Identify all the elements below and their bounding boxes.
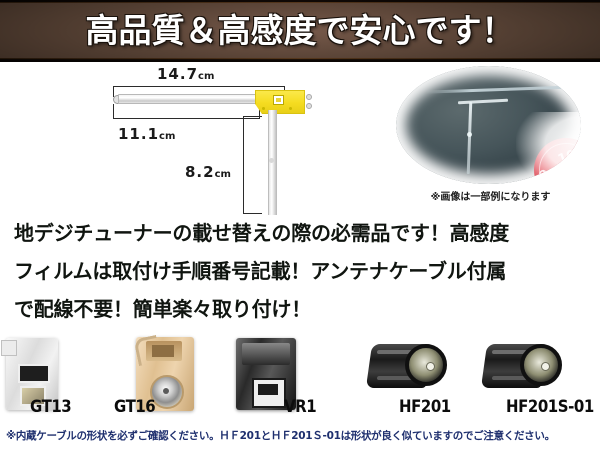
connector-item-hf201s01: HF201S-01 xyxy=(470,332,590,418)
gt13-latch-nub xyxy=(1,340,17,356)
antenna-contact-chip xyxy=(273,95,284,105)
vr1-top-shell xyxy=(242,343,290,365)
description-line-2: フィルムは取付け手順番号記載！アンテナケーブル付属 xyxy=(14,252,586,290)
antenna-diagram: 14.7cm 11.1cm 8.2cm xyxy=(0,62,380,212)
description-line-3: で配線不要！簡単楽々取り付け！ xyxy=(14,290,586,328)
mounted-antenna-horizontal xyxy=(458,99,508,105)
antenna-horizontal-element xyxy=(118,94,270,104)
connector-label: GT16 xyxy=(114,397,155,417)
windshield-edge xyxy=(426,85,576,93)
gt16-top-slot xyxy=(146,341,182,361)
dimension-label-total-width: 14.7cm xyxy=(157,64,214,83)
dimension-bracket-element-width xyxy=(113,104,260,119)
description-line-1: 地デジチューナーの載せ替えの際の必需品です！高感度 xyxy=(14,214,586,252)
dimension-value: 14.7 xyxy=(157,65,198,83)
connector-label: HF201 xyxy=(399,397,451,417)
connector-item-gt13: GT13 xyxy=(0,332,120,418)
vr1-port xyxy=(252,378,286,408)
connector-image-hf201 xyxy=(369,340,447,394)
hf201-coax-socket xyxy=(405,344,447,386)
dimension-value: 8.2 xyxy=(185,163,215,181)
connector-item-gt16: GT16 xyxy=(110,332,230,418)
photo-highlight-fade xyxy=(516,112,581,184)
hf201s01-center-pin xyxy=(541,362,550,371)
connector-label: HF201S-01 xyxy=(506,397,594,417)
header-banner: 高品質＆高感度で安心です！ xyxy=(0,0,600,62)
connector-type-strip: GT13 GT16 VR1 HF201 xyxy=(0,332,600,422)
dimension-bracket-tail-height xyxy=(243,116,262,214)
connector-label: GT13 xyxy=(30,397,71,417)
mounted-antenna-node xyxy=(467,132,472,137)
windshield-photo: 9 10 xyxy=(396,66,581,184)
photo-inset: 9 10 ※画像は一部例になります xyxy=(388,64,593,189)
antenna-side-dot-upper xyxy=(306,94,312,100)
antenna-pad-dot-right xyxy=(289,107,292,110)
hf201s01-coax-socket xyxy=(520,344,562,386)
dimension-value: 11.1 xyxy=(118,125,159,143)
dimension-unit: cm xyxy=(215,169,231,180)
connector-item-vr1: VR1 xyxy=(232,332,352,418)
banner-title: 高品質＆高感度で安心です！ xyxy=(0,4,600,58)
antenna-side-dot-lower xyxy=(306,103,312,109)
mounted-antenna-tail xyxy=(467,102,473,174)
connector-label: VR1 xyxy=(284,397,316,417)
footer-warning-note: ※内蔵ケーブルの形状を必ずご確認ください。ＨＦ201とＨＦ201Ｓ-01は形状が… xyxy=(0,428,600,443)
hf201-center-pin xyxy=(426,362,435,371)
product-description: 地デジチューナーの載せ替えの際の必需品です！高感度 フィルムは取付け手順番号記載… xyxy=(0,214,600,330)
dimension-label-element-width: 11.1cm xyxy=(118,124,175,143)
connector-item-hf201: HF201 xyxy=(355,332,475,418)
photo-caption: ※画像は一部例になります xyxy=(388,188,593,203)
connector-image-hf201s01 xyxy=(484,340,562,394)
dimension-unit: cm xyxy=(159,131,175,142)
dimension-label-tail-height: 8.2cm xyxy=(185,162,231,181)
antenna-pad-dot-left xyxy=(262,107,265,110)
antenna-tail-node xyxy=(269,158,274,163)
dimension-unit: cm xyxy=(198,71,214,82)
